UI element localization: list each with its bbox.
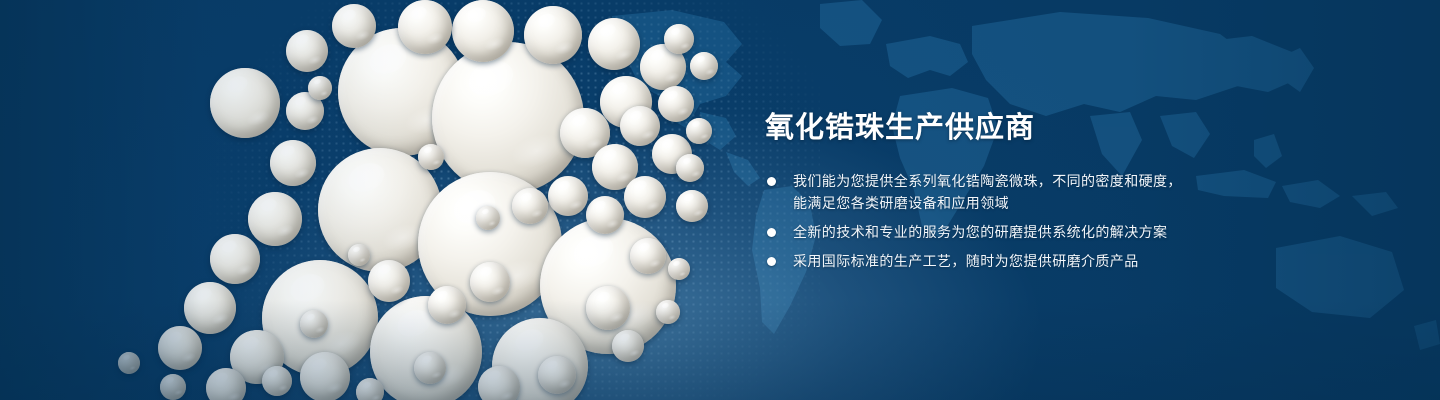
page-title: 氧化锆珠生产供应商	[765, 108, 1285, 148]
list-item: 全新的技术和专业的服务为您的研磨提供系统化的解决方案	[765, 221, 1285, 243]
bullet-dot-icon	[767, 177, 776, 186]
list-item-line: 全新的技术和专业的服务为您的研磨提供系统化的解决方案	[793, 221, 1285, 243]
zirconia-bead-cluster-image	[0, 0, 760, 400]
list-item-line: 能满足您各类研磨设备和应用领域	[793, 192, 1285, 214]
bullet-dot-icon	[767, 228, 776, 237]
banner-copy: 氧化锆珠生产供应商 我们能为您提供全系列氧化锆陶瓷微珠，不同的密度和硬度， 能满…	[765, 108, 1285, 279]
list-item-line: 我们能为您提供全系列氧化锆陶瓷微珠，不同的密度和硬度，	[793, 170, 1285, 192]
list-item: 采用国际标准的生产工艺，随时为您提供研磨介质产品	[765, 250, 1285, 272]
list-item-line: 采用国际标准的生产工艺，随时为您提供研磨介质产品	[793, 250, 1285, 272]
list-item: 我们能为您提供全系列氧化锆陶瓷微珠，不同的密度和硬度， 能满足您各类研磨设备和应…	[765, 170, 1285, 214]
feature-list: 我们能为您提供全系列氧化锆陶瓷微珠，不同的密度和硬度， 能满足您各类研磨设备和应…	[765, 170, 1285, 272]
bullet-dot-icon	[767, 257, 776, 266]
hero-banner: 氧化锆珠生产供应商 我们能为您提供全系列氧化锆陶瓷微珠，不同的密度和硬度， 能满…	[0, 0, 1440, 400]
